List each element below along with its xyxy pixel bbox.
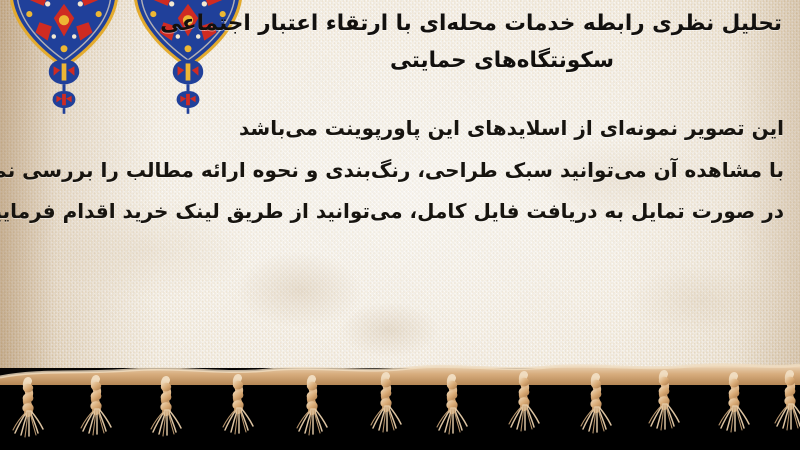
slide-title-line-2: سکونتگاه‌های حمایتی	[222, 43, 782, 80]
slide-body: این تصویر نمونه‌ای از اسلایدهای این پاور…	[84, 108, 784, 233]
presentation-slide: تحلیل نظری رابطه خدمات محله‌ای با ارتقاء…	[0, 0, 800, 450]
slide-body-line-3: در صورت تمایل به دریافت فایل کامل، می‌تو…	[84, 191, 784, 233]
slide-body-line-1: این تصویر نمونه‌ای از اسلایدهای این پاور…	[84, 108, 784, 150]
fringe-tassels-icon	[0, 355, 800, 450]
carpet-fringe-border	[0, 355, 800, 450]
slide-title-line-1: تحلیل نظری رابطه خدمات محله‌ای با ارتقاء…	[222, 6, 782, 43]
slide-body-line-2: با مشاهده آن می‌توانید سبک طراحی، رنگ‌بن…	[84, 150, 784, 192]
slide-title: تحلیل نظری رابطه خدمات محله‌ای با ارتقاء…	[222, 6, 782, 80]
